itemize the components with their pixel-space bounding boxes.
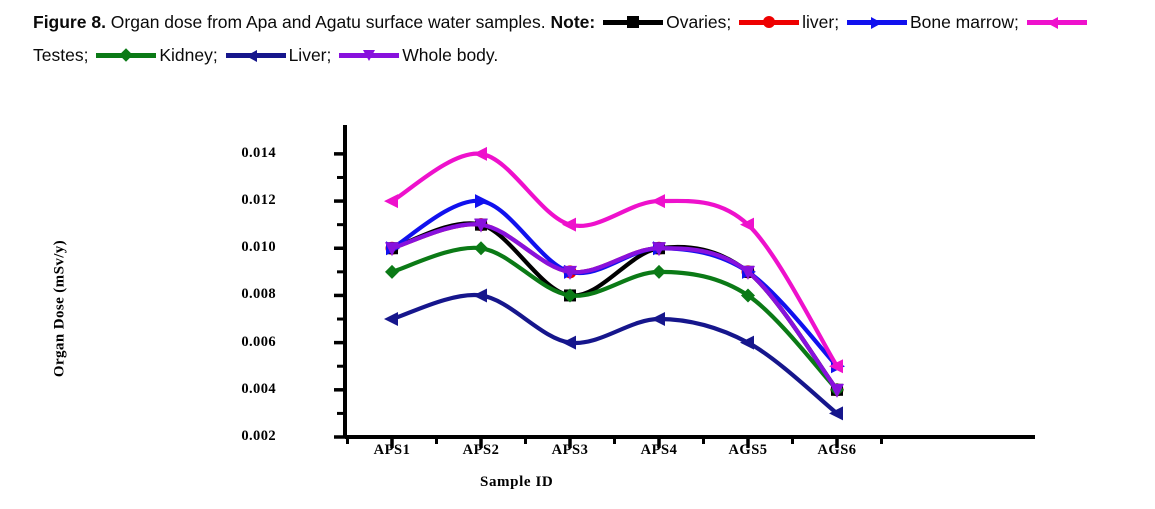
legend-swatch-kidney — [96, 49, 156, 61]
series-ovaries — [386, 219, 843, 396]
plot-canvas — [0, 90, 1155, 509]
legend-label-liver-red: liver; — [802, 12, 839, 32]
diamond-marker-icon — [120, 49, 134, 63]
triangle-left-marker-icon — [562, 218, 576, 232]
legend-swatch-liver-navy — [226, 49, 286, 61]
triangle-left-marker-icon — [473, 288, 487, 302]
triangle-left-marker-icon — [651, 194, 665, 208]
note-label: Note: — [551, 12, 596, 32]
legend-swatch-bone-marrow — [847, 16, 907, 28]
triangle-right-marker-icon — [871, 17, 882, 29]
legend-swatch-ovaries — [603, 16, 663, 28]
triangle-left-marker-icon — [246, 50, 257, 62]
legend-label-liver-navy: Liver; — [289, 45, 332, 65]
caption-text: Organ dose from Apa and Agatu surface wa… — [106, 12, 551, 32]
legend-swatch-liver-red — [739, 16, 799, 28]
legend-label-bone-marrow: Bone marrow; — [910, 12, 1019, 32]
triangle-left-marker-icon — [562, 336, 576, 350]
circle-marker-icon — [763, 16, 775, 28]
triangle-left-marker-icon — [1047, 17, 1058, 29]
legend-label-kidney: Kidney; — [159, 45, 217, 65]
figure-number: Figure 8. — [33, 12, 106, 32]
legend-label-testes: Testes; — [33, 45, 88, 65]
series-line — [392, 248, 837, 390]
triangle-left-marker-icon — [384, 194, 398, 208]
series-liver — [386, 218, 844, 396]
diamond-marker-icon — [652, 265, 666, 279]
legend-label-whole-body: Whole body. — [402, 45, 498, 65]
diamond-marker-icon — [474, 241, 488, 255]
triangle-right-marker-icon — [475, 194, 489, 208]
triangle-left-marker-icon — [384, 312, 398, 326]
triangle-left-marker-icon — [473, 147, 487, 161]
legend-label-ovaries: Ovaries; — [666, 12, 731, 32]
triangle-down-marker-icon — [363, 50, 375, 61]
legend-swatch-whole-body — [339, 49, 399, 61]
series-liver — [384, 288, 843, 420]
organ-dose-line-chart: Organ Dose (mSv/y) Sample ID 0.0020.0040… — [0, 90, 1155, 509]
square-marker-icon — [627, 16, 639, 28]
triangle-left-marker-icon — [651, 312, 665, 326]
diamond-marker-icon — [385, 265, 399, 279]
figure-caption: Figure 8. Organ dose from Apa and Agatu … — [33, 6, 1133, 72]
series-whole-body — [385, 219, 844, 398]
legend-swatch-testes — [1027, 16, 1087, 28]
